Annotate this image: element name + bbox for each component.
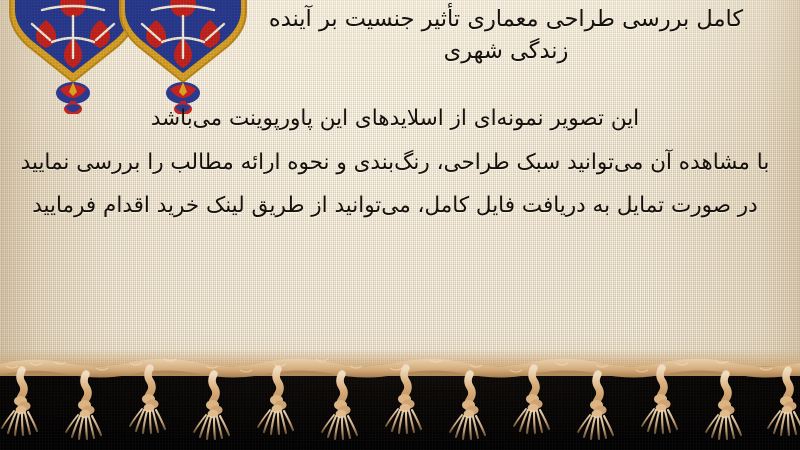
body-line-2: با مشاهده آن می‌توانید سبک طراحی، رنگ‌بن… [0, 152, 790, 174]
carpet-fringe-tassels [0, 350, 800, 450]
presentation-slide: کامل بررسی طراحی معماری تأثیر جنسیت بر آ… [0, 0, 800, 450]
slide-title-line-1: کامل بررسی طراحی معماری تأثیر جنسیت بر آ… [226, 4, 786, 36]
slide-body: این تصویر نمونه‌ای از اسلایدهای این پاور… [0, 108, 790, 239]
body-line-1: این تصویر نمونه‌ای از اسلایدهای این پاور… [0, 108, 790, 130]
slide-title: کامل بررسی طراحی معماری تأثیر جنسیت بر آ… [226, 4, 786, 68]
slide-title-line-2: زندگی شهری [226, 36, 786, 68]
body-line-3: در صورت تمایل به دریافت فایل کامل، می‌تو… [0, 195, 790, 217]
carpet-medallion-group [0, 0, 260, 114]
